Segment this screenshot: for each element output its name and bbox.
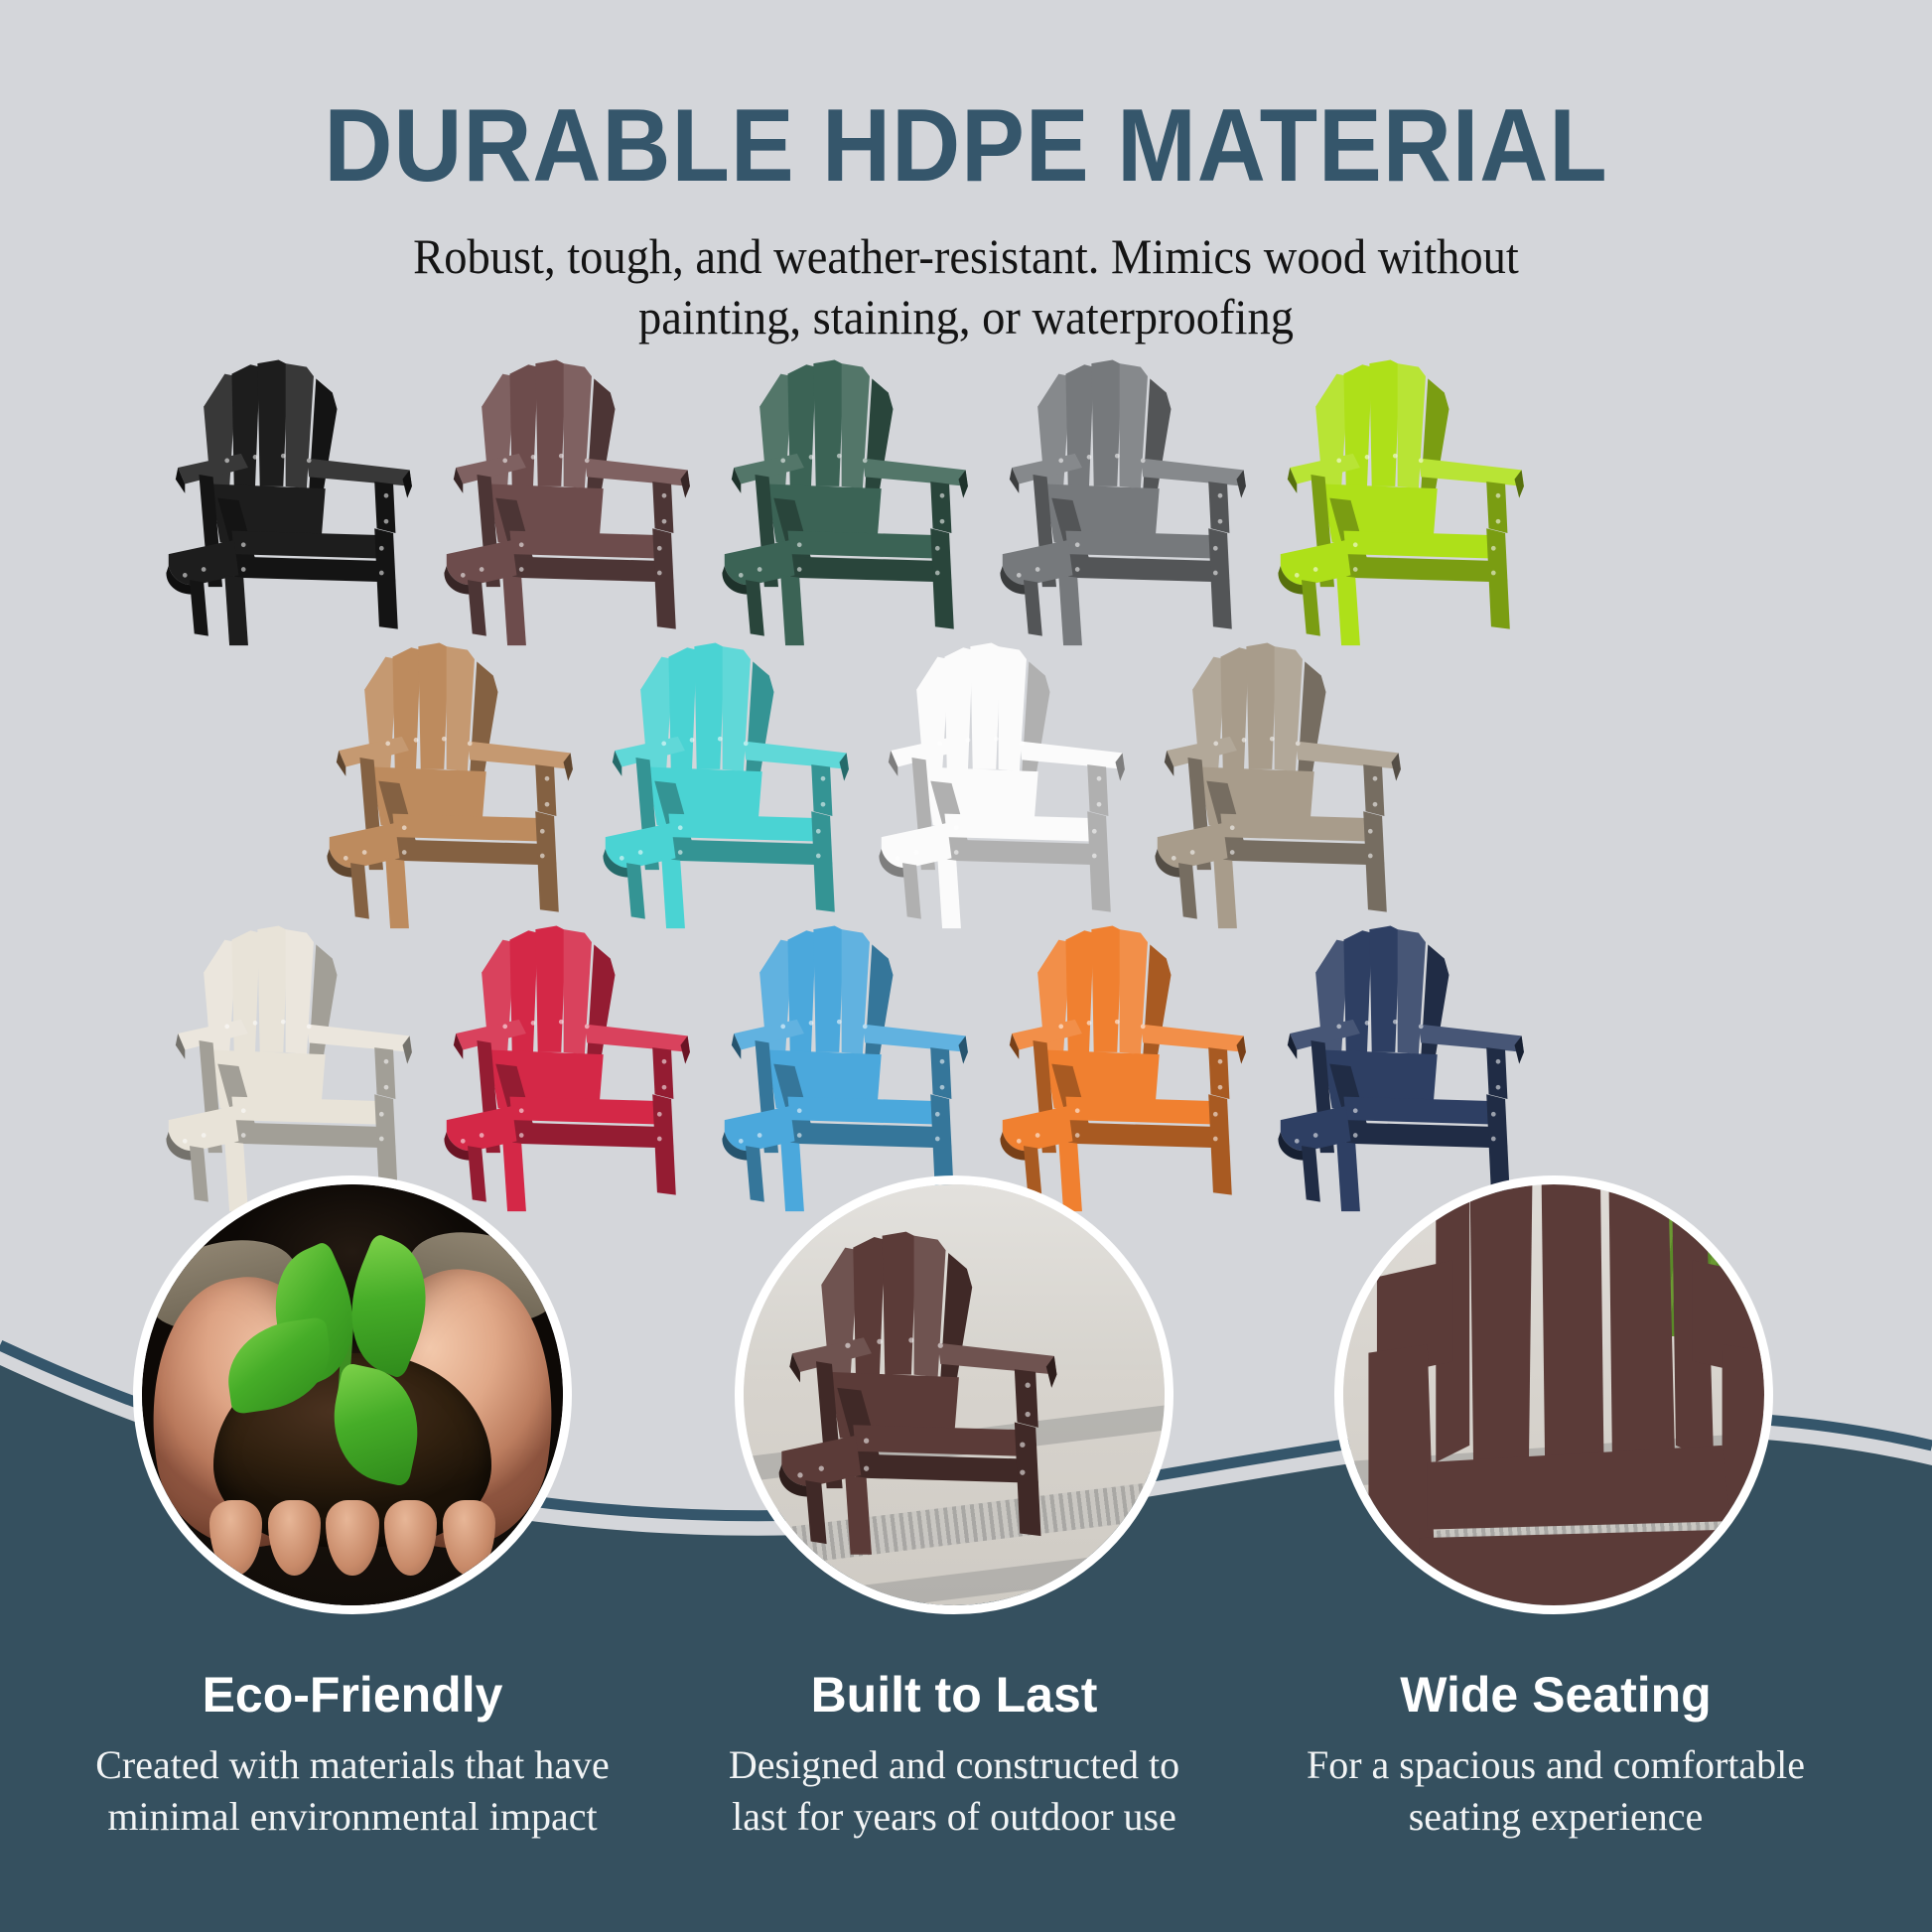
feature-heading: Built to Last — [676, 1666, 1232, 1724]
feature-photo-durability — [735, 1175, 1173, 1614]
feature-heading: Wide Seating — [1278, 1666, 1834, 1724]
feature-description: Created with materials that have minimal… — [74, 1739, 630, 1843]
chair-swatch-lime-green[interactable] — [1269, 357, 1596, 650]
feature-desc-line-2: seating experience — [1278, 1791, 1834, 1843]
feature-description: For a spacious and comfortable seating e… — [1278, 1739, 1834, 1843]
feature-desc-line-1: For a spacious and comfortable — [1278, 1739, 1834, 1791]
feature-block-durability: Built to Last Designed and constructed t… — [676, 1666, 1232, 1843]
chair-swatch-navy-blue[interactable] — [1269, 923, 1596, 1216]
feature-heading: Eco-Friendly — [74, 1666, 630, 1724]
subtitle-line-2: painting, staining, or waterproofing — [68, 287, 1864, 347]
feature-description: Designed and constructed to last for yea… — [676, 1739, 1232, 1843]
feature-photo-eco — [133, 1175, 572, 1614]
infographic-canvas: DURABLE HDPE MATERIAL Robust, tough, and… — [0, 0, 1932, 1932]
fingers — [209, 1500, 495, 1576]
chair-swatch-taupe[interactable] — [1146, 640, 1473, 933]
feature-block-eco: Eco-Friendly Created with materials that… — [74, 1666, 630, 1843]
patio-chair-angled — [768, 1209, 1139, 1580]
page-title: DURABLE HDPE MATERIAL — [77, 87, 1855, 206]
chair-front-closeup — [1343, 1184, 1764, 1605]
page-subtitle: Robust, tough, and weather-resistant. Mi… — [68, 226, 1864, 347]
feature-desc-line-2: minimal environmental impact — [74, 1791, 630, 1843]
feature-desc-line-1: Created with materials that have — [74, 1739, 630, 1791]
feature-desc-line-1: Designed and constructed to — [676, 1739, 1232, 1791]
feature-photo-seating — [1334, 1175, 1773, 1614]
feature-block-seating: Wide Seating For a spacious and comforta… — [1278, 1666, 1834, 1843]
feature-desc-line-2: last for years of outdoor use — [676, 1791, 1232, 1843]
subtitle-line-1: Robust, tough, and weather-resistant. Mi… — [68, 226, 1864, 287]
